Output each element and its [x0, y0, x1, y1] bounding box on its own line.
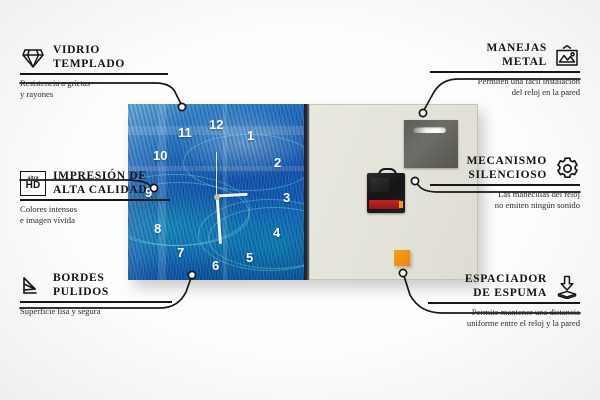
- feature-title: BORDES PULIDOS: [53, 272, 109, 299]
- feature-title-line2: TEMPLADO: [53, 58, 125, 70]
- infographic-canvas: 12 1 2 3 4 5 6 7 8 9 10 11: [0, 0, 600, 400]
- hand-center-cap: [214, 194, 220, 200]
- clock-numeral: 11: [178, 126, 192, 139]
- product-photo: 12 1 2 3 4 5 6 7 8 9 10 11: [128, 104, 478, 280]
- feature-rule: [430, 184, 580, 185]
- feature-title: MECANISMO SILENCIOSO: [467, 155, 547, 182]
- feature-impresion-alta-calidad: ultra HD IMPRESIÓN DE ALTA CALIDAD Color…: [20, 170, 170, 227]
- diamond-icon: [20, 45, 46, 71]
- feature-rule: [20, 199, 170, 200]
- clock-numeral: 4: [273, 226, 280, 239]
- clock-numeral: 2: [274, 156, 281, 169]
- feature-rule: [428, 302, 580, 303]
- clock-numeral: 12: [209, 118, 223, 131]
- feature-title: MANEJAS METAL: [487, 42, 548, 69]
- feature-description-text: Las manecillas del reloj no emiten ningú…: [495, 189, 580, 211]
- feature-title-line1: VIDRIO: [53, 44, 100, 56]
- feature-title-line2: PULIDOS: [53, 286, 109, 298]
- foam-spacer-arrow-icon: [554, 274, 580, 300]
- mechanism-hanging-loop: [378, 168, 397, 178]
- clock-numeral: 3: [283, 191, 290, 204]
- feature-description: Permiten una fácil instalación del reloj…: [430, 76, 580, 99]
- feature-title-line1: ESPACIADOR: [465, 273, 547, 285]
- feature-description-text: Superficie lisa y segura: [20, 306, 100, 316]
- feature-title-line2: SILENCIOSO: [468, 169, 547, 181]
- feature-description: Resistencia a grietas y rayones: [20, 78, 168, 101]
- gear-icon: [554, 156, 580, 182]
- feature-description: Superficie lisa y segura: [20, 306, 172, 318]
- feature-rule: [20, 73, 168, 74]
- feature-description: Las manecillas del reloj no emiten ningú…: [430, 189, 580, 212]
- feature-title-line2: DE ESPUMA: [473, 287, 547, 299]
- feature-bordes-pulidos: BORDES PULIDOS Superficie lisa y segura: [20, 272, 172, 317]
- clock-numeral: 5: [246, 251, 253, 264]
- clock-numeral: 1: [247, 129, 254, 142]
- feature-description: Permite mantener una distancia uniforme …: [428, 307, 580, 330]
- feature-description: Colores intensos e imagen vívida: [20, 204, 170, 227]
- feature-title-line1: IMPRESIÓN DE: [53, 170, 147, 182]
- feature-mecanismo-silencioso: MECANISMO SILENCIOSO Las manecillas del …: [430, 155, 580, 212]
- feature-espaciador-espuma: ESPACIADOR DE ESPUMA Permite mantener un…: [428, 273, 580, 330]
- feature-title-line1: MECANISMO: [467, 155, 547, 167]
- feature-rule: [430, 71, 580, 72]
- feature-title-line1: MANEJAS: [487, 42, 548, 54]
- clock-numeral: 7: [177, 246, 184, 259]
- feature-manejas-metal: MANEJAS METAL Permiten una fácil instala…: [430, 42, 580, 99]
- hanger-slot: [413, 127, 446, 133]
- feature-description-text: Colores intensos e imagen vívida: [20, 204, 77, 226]
- picture-hanger-icon: [554, 43, 580, 69]
- feature-title-line2: METAL: [502, 56, 547, 68]
- mechanism-body: [367, 173, 405, 213]
- feature-description-text: Permite mantener una distancia uniforme …: [467, 307, 580, 329]
- polished-edges-icon: [20, 273, 46, 299]
- feature-title: VIDRIO TEMPLADO: [53, 44, 125, 71]
- feature-title-line1: BORDES: [53, 272, 105, 284]
- foam-spacer: [394, 250, 410, 266]
- feature-title-line2: ALTA CALIDAD: [53, 184, 147, 196]
- ultra-hd-badge-icon: ultra HD: [20, 171, 46, 197]
- clock-mechanism: [367, 168, 405, 213]
- feature-vidrio-templado: VIDRIO TEMPLADO Resistencia a grietas y …: [20, 44, 168, 101]
- feature-description-text: Resistencia a grietas y rayones: [20, 78, 90, 100]
- battery: [369, 200, 401, 209]
- feature-rule: [20, 301, 172, 302]
- feature-description-text: Permiten una fácil instalación del reloj…: [478, 76, 580, 98]
- feature-title: ESPACIADOR DE ESPUMA: [465, 273, 547, 300]
- clock-numeral: 6: [212, 259, 219, 272]
- hd-badge-large-text: HD: [26, 181, 41, 191]
- clock-numeral: 10: [153, 149, 167, 162]
- feature-title: IMPRESIÓN DE ALTA CALIDAD: [53, 170, 147, 197]
